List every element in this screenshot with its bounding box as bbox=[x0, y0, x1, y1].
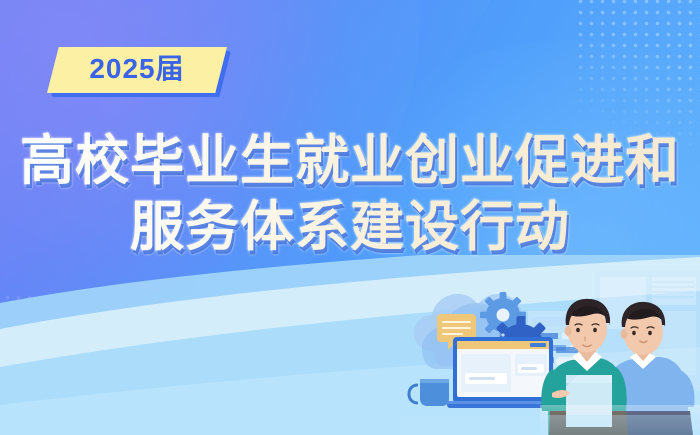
title-line-1: 高校毕业生就业创业促进和 bbox=[0, 128, 700, 194]
dot-pattern-top-right bbox=[575, 0, 700, 146]
dot-pattern-left bbox=[2, 292, 104, 340]
page-title: 高校毕业生就业创业促进和 服务体系建设行动 bbox=[0, 128, 700, 260]
year-badge-body: 2025届 bbox=[47, 47, 227, 93]
desk-surface bbox=[400, 415, 700, 435]
banner-root: 2025届 高校毕业生就业创业促进和 服务体系建设行动 bbox=[0, 0, 700, 435]
year-badge: 2025届 bbox=[47, 47, 237, 99]
title-line-2: 服务体系建设行动 bbox=[0, 194, 700, 260]
illustration bbox=[400, 265, 700, 435]
year-badge-label: 2025届 bbox=[89, 55, 184, 83]
coffee-mug bbox=[409, 379, 449, 406]
